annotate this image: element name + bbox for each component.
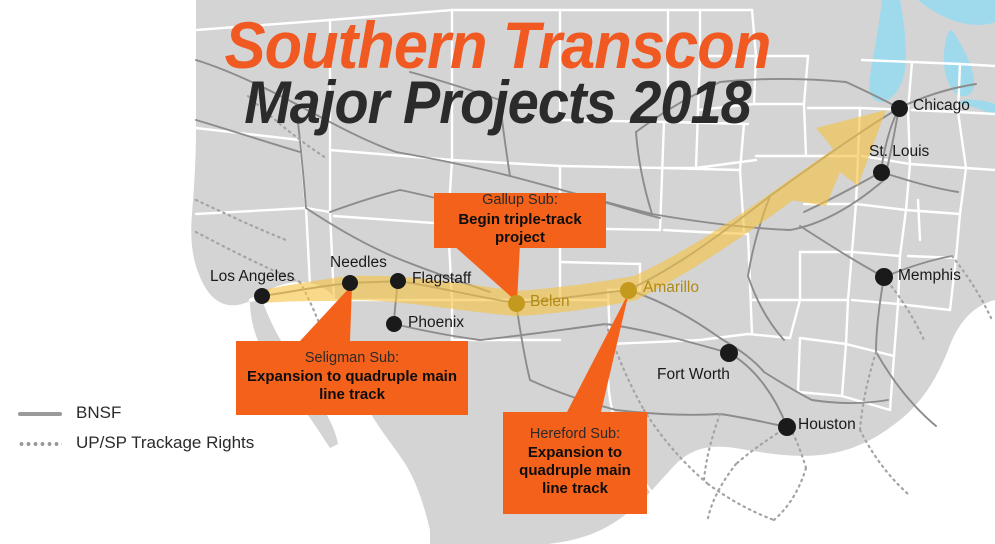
legend: BNSF UP/SP Trackage Rights xyxy=(18,398,254,458)
us-map xyxy=(0,0,995,544)
callout-description: Expansion to quadruple main line track xyxy=(246,368,458,404)
callout-gallup: Gallup Sub:Begin triple-track project xyxy=(434,193,606,248)
city-dot xyxy=(342,275,358,291)
city-dot xyxy=(720,344,738,362)
city-label: St. Louis xyxy=(869,143,929,161)
legend-label-bnsf: BNSF xyxy=(76,403,121,423)
city-label: Phoenix xyxy=(408,314,464,332)
solid-line-icon xyxy=(18,406,62,420)
callout-subdivision-label: Seligman Sub: xyxy=(246,350,458,367)
city-dot xyxy=(386,316,402,332)
legend-item-bnsf: BNSF xyxy=(18,398,254,428)
city-dot xyxy=(620,282,637,299)
callout-subdivision-label: Gallup Sub: xyxy=(444,192,596,209)
city-dot xyxy=(778,418,796,436)
city-label: Chicago xyxy=(913,97,970,115)
map-infographic: Southern Transcon Major Projects 2018 Lo… xyxy=(0,0,995,544)
callout-description: Expansion to quadruple main line track xyxy=(513,444,637,498)
city-label: Los Angeles xyxy=(210,268,294,286)
callout-subdivision-label: Hereford Sub: xyxy=(513,426,637,443)
city-label: Belen xyxy=(530,293,570,311)
city-label: Memphis xyxy=(898,267,961,285)
legend-label-upsp: UP/SP Trackage Rights xyxy=(76,433,254,453)
city-label: Fort Worth xyxy=(657,366,730,384)
city-dot xyxy=(891,100,908,117)
callout-seligman: Seligman Sub:Expansion to quadruple main… xyxy=(236,341,468,415)
city-dot xyxy=(254,288,270,304)
city-label: Amarillo xyxy=(643,279,699,297)
city-label: Needles xyxy=(330,254,387,272)
city-dot xyxy=(390,273,406,289)
callout-hereford: Hereford Sub:Expansion to quadruple main… xyxy=(503,412,647,514)
legend-item-upsp: UP/SP Trackage Rights xyxy=(18,428,254,458)
city-dot xyxy=(873,164,890,181)
city-label: Houston xyxy=(798,416,856,434)
dotted-line-icon xyxy=(18,436,62,450)
city-label: Flagstaff xyxy=(412,270,471,288)
callout-description: Begin triple-track project xyxy=(444,211,596,247)
city-dot xyxy=(508,295,525,312)
city-dot xyxy=(875,268,893,286)
